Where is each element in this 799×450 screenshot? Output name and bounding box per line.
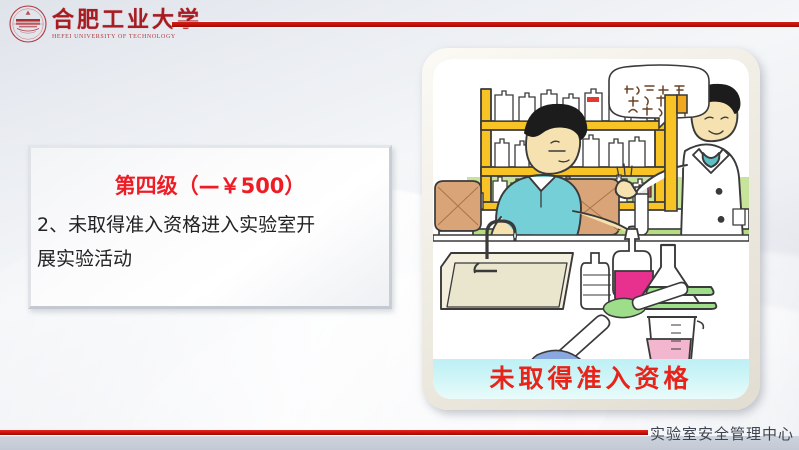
slide-header: 合肥工业大学 HEFEI UNIVERSITY OF TECHNOLOGY: [0, 0, 799, 50]
violation-description-line-2: 展实验活动: [37, 246, 389, 274]
penalty-level-title: 第四级（—￥500）: [31, 170, 389, 200]
slide-canvas: 合肥工业大学 HEFEI UNIVERSITY OF TECHNOLOGY 第四…: [0, 0, 799, 450]
content-text-box: 第四级（—￥500） 2、未取得准入资格进入实验室开 展实验活动: [28, 145, 392, 309]
lab-safety-cartoon: 未取得准入资格: [433, 59, 749, 399]
illustration-caption: 未取得准入资格: [489, 364, 692, 393]
footer-organization-label: 实验室安全管理中心: [650, 423, 794, 444]
footer-red-rule: [0, 430, 648, 435]
university-name-cn: 合肥工业大学: [52, 9, 202, 31]
illustration-canvas: 未取得准入资格: [433, 59, 749, 399]
illustration-frame: 未取得准入资格: [422, 48, 760, 410]
university-name-en: HEFEI UNIVERSITY OF TECHNOLOGY: [52, 34, 202, 40]
university-seal-icon: [8, 4, 48, 44]
violation-description-line-1: 2、未取得准入资格进入实验室开: [37, 212, 389, 240]
header-red-rule: [172, 22, 799, 27]
